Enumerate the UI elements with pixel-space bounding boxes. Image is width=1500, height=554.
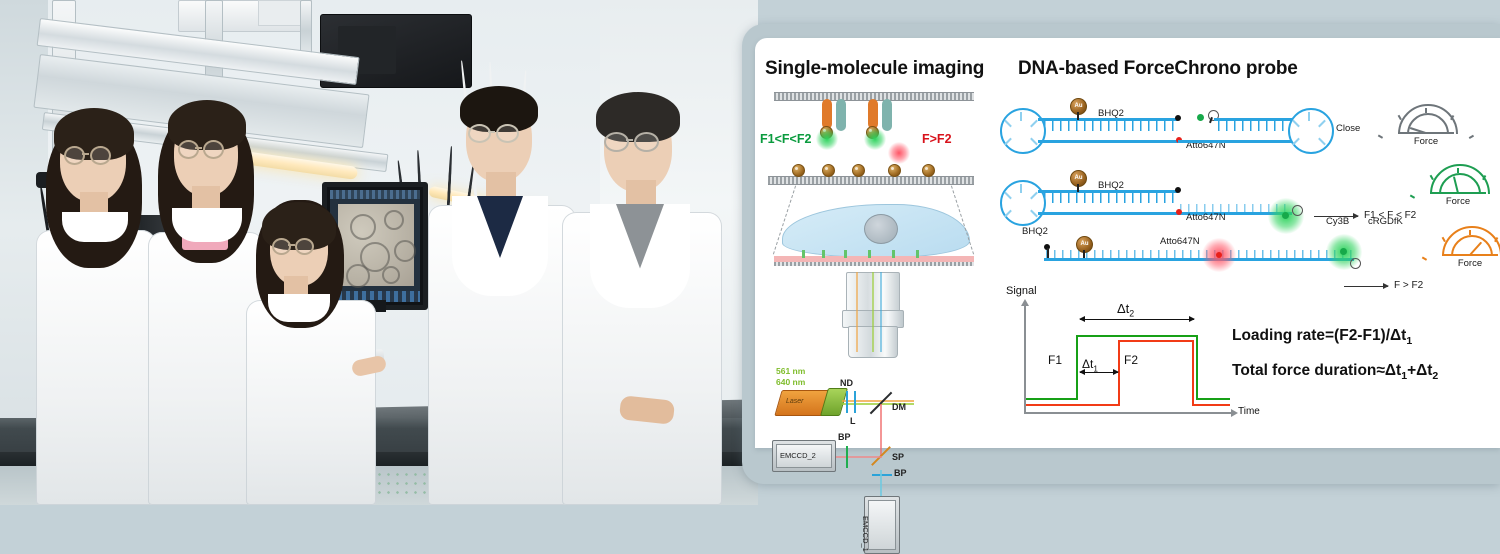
bhq2-quencher-2 xyxy=(1175,187,1181,193)
beam-640 xyxy=(872,272,874,352)
gold-bead-bottom-4 xyxy=(888,164,901,177)
collar-3 xyxy=(268,294,330,322)
green-fluorescence-spot-1 xyxy=(816,128,838,150)
bhq2-stem-3 xyxy=(1047,248,1049,258)
nd-filter-1 xyxy=(846,391,848,413)
signal-time-plot: Signal Time F1 F2 Δt2 Δt1 xyxy=(1000,285,1250,430)
x-axis xyxy=(1024,412,1232,414)
axis-label-time: Time xyxy=(1238,406,1260,417)
label-wavelength-640: 640 nm xyxy=(776,377,805,387)
red-fluorescence-spot-1 xyxy=(888,142,910,164)
emission-beam-left xyxy=(832,456,882,458)
label-atto647n-2: Atto647N xyxy=(1186,212,1226,223)
label-dm: DM xyxy=(892,402,906,412)
cy3b-dye-2 xyxy=(1282,212,1289,219)
monitor-toolbar xyxy=(330,190,420,199)
gold-bead-bottom-2 xyxy=(822,164,835,177)
label-cy3b-3: Cy3B xyxy=(1326,216,1349,227)
ligand-tick-6 xyxy=(916,250,919,258)
cy3b-dye-1 xyxy=(1197,114,1204,121)
equation-loading-rate: Loading rate=(F2-F1)/Δt1 xyxy=(1232,327,1412,347)
integrin-teal-1 xyxy=(836,99,846,131)
base-pair-rungs-1b xyxy=(1218,120,1290,131)
dna-strand-bottom-1 xyxy=(1038,140,1178,143)
hairpin-loop-left-2 xyxy=(1000,180,1046,226)
y-axis xyxy=(1024,305,1026,413)
panel-title-forcechrono-probe: DNA-based ForceChrono probe xyxy=(1018,58,1298,80)
label-f1-f-f2: F1<F<F2 xyxy=(760,132,811,146)
collar-2 xyxy=(172,208,242,242)
label-bhq2-1: BHQ2 xyxy=(1098,108,1124,119)
label-laser: Laser xyxy=(786,398,804,405)
label-atto647n-3: Atto647N xyxy=(1160,236,1200,247)
integrin-orange-1 xyxy=(822,99,832,129)
integrin-orange-2 xyxy=(868,99,878,129)
forcechrono-probe-schematic: Au BHQ2 Atto647N Close xyxy=(1000,98,1495,298)
monitor-cells-overlay xyxy=(338,204,414,286)
arrow-to-condition-3 xyxy=(1344,286,1388,287)
single-molecule-imaging-schematic: F1<F<F2 F>F2 561 nm 640 nm xyxy=(760,88,990,440)
label-bhq2-3: BHQ2 xyxy=(1022,226,1048,237)
hairpin-loop-left-1 xyxy=(1000,108,1046,154)
dna-strand-bottom-1b xyxy=(1178,140,1292,143)
band-pass-filter-2 xyxy=(872,474,892,476)
base-pair-rungs-1 xyxy=(1044,120,1174,131)
beam-to-emccd1 xyxy=(880,470,882,498)
hairpin-loop-right-1 xyxy=(1288,108,1334,154)
gauge-caption-2: Force xyxy=(1430,196,1486,207)
gold-bead-bottom-3 xyxy=(852,164,865,177)
glasses-5 xyxy=(604,132,670,152)
label-emccd-2: EMCCD_2 xyxy=(780,451,816,460)
gauge-caption-1: Force xyxy=(1398,136,1454,147)
bhq2-quencher-1 xyxy=(1175,115,1181,121)
ligand-tick-4 xyxy=(868,250,871,258)
x-axis-arrow xyxy=(1231,409,1238,417)
label-condition-f-gt-f2: F > F2 xyxy=(1394,280,1423,291)
single-strand-ticks-3 xyxy=(1046,250,1352,261)
label-f2-level: F2 xyxy=(1124,353,1138,367)
glasses-2 xyxy=(178,140,236,160)
monitor-microscopy-image xyxy=(338,204,414,286)
monitor-screen xyxy=(330,190,420,302)
label-delta-t1: Δt1 xyxy=(1082,357,1098,373)
label-nd: ND xyxy=(840,378,853,388)
beam-561 xyxy=(856,272,858,352)
label-sp: SP xyxy=(892,452,904,462)
label-bp-1: BP xyxy=(838,432,851,442)
ligand-tick-1 xyxy=(802,250,805,258)
lower-glass-surface xyxy=(768,176,974,185)
ligand-tick-5 xyxy=(892,250,895,258)
y-axis-arrow xyxy=(1021,299,1029,306)
glasses-3 xyxy=(272,238,326,256)
panel-title-single-molecule-imaging: Single-molecule imaging xyxy=(765,58,984,80)
integrin-teal-2 xyxy=(882,99,892,131)
atto647n-dye-2 xyxy=(1176,209,1182,215)
lab-coat-1 xyxy=(36,230,156,505)
label-close-state: Close xyxy=(1336,123,1360,134)
coverslip-layer xyxy=(774,262,974,266)
ligand-tick-2 xyxy=(822,250,825,258)
axis-label-signal: Signal xyxy=(1006,285,1037,297)
label-f1-level: F1 xyxy=(1048,353,1062,367)
equation-total-force-duration: Total force duration≈Δt1+Δt2 xyxy=(1232,362,1438,382)
glasses-1 xyxy=(64,146,124,166)
aunp-stem-1 xyxy=(1077,112,1079,120)
cell-nucleus xyxy=(864,214,898,244)
atto647n-dye-3 xyxy=(1216,252,1222,258)
base-pair-rungs-2 xyxy=(1044,192,1174,203)
label-bp-2: BP xyxy=(894,468,907,478)
nd-filter-2 xyxy=(854,391,856,413)
crgdfk-ligand-2 xyxy=(1292,205,1303,216)
aunp-stem-3 xyxy=(1083,250,1085,258)
force-gauge-open: Force xyxy=(1442,226,1498,258)
label-crgdfk-3: cRGDfK xyxy=(1368,216,1403,227)
gauge-caption-3: Force xyxy=(1442,258,1498,269)
gold-bead-bottom-1 xyxy=(792,164,805,177)
cy3b-dye-3 xyxy=(1340,248,1347,255)
lab-group-photo xyxy=(0,0,758,505)
label-wavelength-561: 561 nm xyxy=(776,366,805,376)
force-gauge-partial: Force xyxy=(1430,164,1486,196)
ligand-tick-3 xyxy=(844,250,847,258)
gold-bead-bottom-5 xyxy=(922,164,935,177)
label-l: L xyxy=(850,416,856,426)
label-delta-t2: Δt2 xyxy=(1117,301,1134,319)
glasses-4 xyxy=(468,124,530,144)
label-f-gt-f2: F>F2 xyxy=(922,132,952,146)
crgdfk-ligand-3 xyxy=(1350,258,1361,269)
label-bhq2-2: BHQ2 xyxy=(1098,180,1124,191)
label-emccd-1: EMCCD_1 xyxy=(861,516,870,552)
figure-root: Single-molecule imaging DNA-based ForceC… xyxy=(0,0,1500,505)
lab-coat-3 xyxy=(246,300,376,505)
aunp-stem-2 xyxy=(1077,184,1079,192)
force-gauge-closed: Force xyxy=(1398,104,1454,136)
emission-beam-down xyxy=(880,404,882,456)
green-fluorescence-spot-2 xyxy=(864,128,886,150)
delta-t2-arrow xyxy=(1080,319,1194,320)
collar-1 xyxy=(62,212,128,242)
band-pass-filter-1 xyxy=(846,446,848,468)
beam-emission xyxy=(880,272,882,352)
